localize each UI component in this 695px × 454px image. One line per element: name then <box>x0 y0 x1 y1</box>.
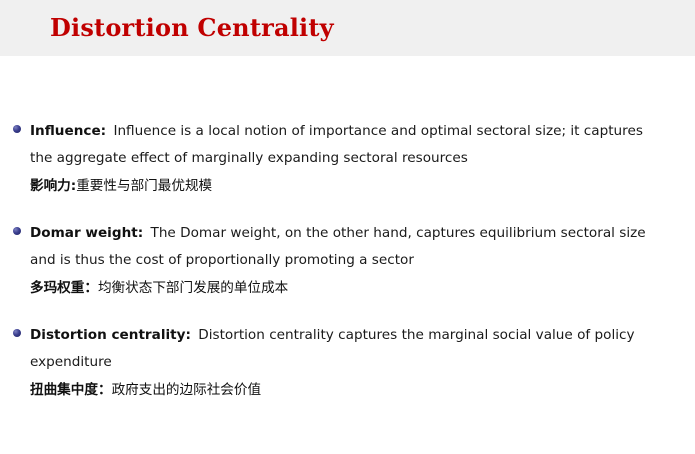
list-item: Influence: Influence is a local notion o… <box>0 118 695 200</box>
list-item: Distortion centrality: Distortion centra… <box>0 322 695 404</box>
bullet-translation-lead: 多玛权重： <box>30 280 98 296</box>
bullet-point-icon <box>13 329 21 337</box>
presentation-slide: Distortion Centrality Influence: Influen… <box>0 0 695 454</box>
bullet-translation-lead: 影响力: <box>30 178 76 194</box>
bullet-translation-line: 影响力:重要性与部门最优规模 <box>30 173 653 200</box>
bullet-lead-label: Domar weight: <box>30 225 143 241</box>
bullet-body-text: Influence is a local notion of importanc… <box>30 123 643 166</box>
bullet-translation-body: 重要性与部门最优规模 <box>76 178 212 194</box>
page-title: Distortion Centrality <box>50 13 334 43</box>
bullet-text: Domar weight: The Domar weight, on the o… <box>30 220 653 274</box>
bullet-lead-label: Influence: <box>30 123 106 139</box>
list-item: Domar weight: The Domar weight, on the o… <box>0 220 695 302</box>
bullet-list: Influence: Influence is a local notion o… <box>0 118 695 404</box>
bullet-text: Distortion centrality: Distortion centra… <box>30 322 653 376</box>
bullet-text: Influence: Influence is a local notion o… <box>30 118 653 172</box>
bullet-translation-body: 政府支出的边际社会价值 <box>112 382 262 398</box>
slide-body: Influence: Influence is a local notion o… <box>0 56 695 454</box>
bullet-translation-lead: 扭曲集中度： <box>30 382 112 398</box>
bullet-translation-body: 均衡状态下部门发展的单位成本 <box>98 280 288 296</box>
bullet-lead-label: Distortion centrality: <box>30 327 191 343</box>
bullet-point-icon <box>13 125 21 133</box>
bullet-point-icon <box>13 227 21 235</box>
bullet-translation-line: 扭曲集中度：政府支出的边际社会价值 <box>30 377 653 404</box>
bullet-translation-line: 多玛权重：均衡状态下部门发展的单位成本 <box>30 275 653 302</box>
